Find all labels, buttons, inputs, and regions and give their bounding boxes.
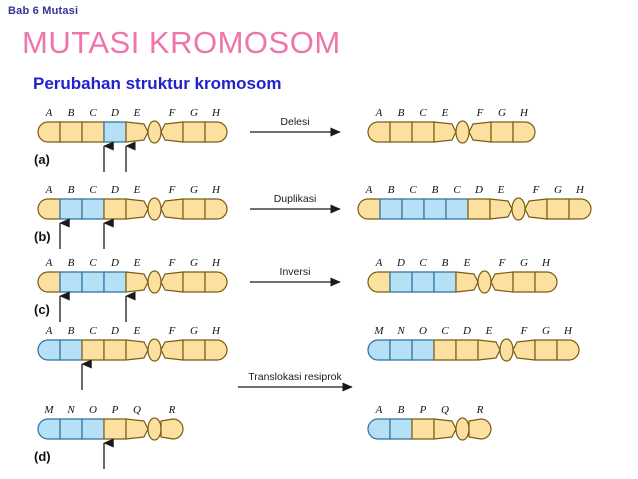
gene-label-C: C <box>409 184 417 196</box>
centromere <box>512 198 525 220</box>
gene-label-E: E <box>463 257 471 269</box>
gene-label-G: G <box>190 107 198 119</box>
gene-label-H: H <box>563 325 573 337</box>
gene-label-B: B <box>68 107 75 119</box>
chromosome-segment-F <box>469 122 491 142</box>
gene-label-E: E <box>133 107 141 119</box>
chromosome-segment-H <box>205 340 227 360</box>
chromosome-segment-D <box>104 199 126 219</box>
row-label-c: (c) <box>34 302 50 317</box>
gene-label-D: D <box>110 257 119 269</box>
chromosome-segment-O <box>412 340 434 360</box>
chromosome-segment-N <box>390 340 412 360</box>
chromosome-segment-F <box>161 272 183 292</box>
chromosome-segment-R <box>161 419 183 439</box>
chromosome-segment-D <box>104 340 126 360</box>
gene-label-G: G <box>190 184 198 196</box>
chromosome-segment-H <box>535 272 557 292</box>
chromosome-segment-H <box>569 199 591 219</box>
chromosome-segment-A <box>368 419 390 439</box>
operation-duplikasi: Duplikasi <box>250 193 340 209</box>
chromosome-segment-D <box>456 340 478 360</box>
centromere <box>500 339 513 361</box>
chromosome-segment-A <box>358 199 380 219</box>
chromosome-segment-C <box>412 272 434 292</box>
chromosome-segment-D <box>104 272 126 292</box>
chromosome-segment-E <box>456 272 478 292</box>
chromosome-d-after-1: MNOCDEFGH <box>368 325 579 361</box>
chromosome-segment-A <box>38 199 60 219</box>
chromosome-segment-G <box>183 272 205 292</box>
gene-label-E: E <box>133 257 141 269</box>
chromosome-segment-D <box>468 199 490 219</box>
chromosome-segment-E <box>126 272 148 292</box>
gene-label-A: A <box>375 107 383 119</box>
gene-label-B: B <box>432 184 439 196</box>
gene-label-H: H <box>211 184 221 196</box>
gene-label-O: O <box>419 325 427 337</box>
chromosome-segment-C <box>82 199 104 219</box>
gene-label-F: F <box>520 325 528 337</box>
chromosome-segment-G <box>535 340 557 360</box>
centromere <box>148 418 161 440</box>
chromosome-segment-F <box>161 122 183 142</box>
gene-label-B: B <box>398 404 405 416</box>
chromosome-segment-A <box>38 122 60 142</box>
chromosome-segment-H <box>205 199 227 219</box>
gene-label-C: C <box>89 257 97 269</box>
gene-label-A: A <box>365 184 373 196</box>
gene-label-C: C <box>453 184 461 196</box>
chromosome-segment-H <box>205 122 227 142</box>
chromosome-segment-B <box>424 199 446 219</box>
gene-label-H: H <box>211 107 221 119</box>
chromosome-segment-E <box>126 340 148 360</box>
gene-label-D: D <box>110 107 119 119</box>
chromosome-segment-E <box>478 340 500 360</box>
chromosome-segment-B <box>60 199 82 219</box>
chromosome-segment-G <box>513 272 535 292</box>
gene-label-F: F <box>168 257 176 269</box>
chromosome-segment-A <box>38 272 60 292</box>
gene-label-B: B <box>388 184 395 196</box>
centromere <box>148 198 161 220</box>
chromosome-segment-B <box>60 122 82 142</box>
gene-label-C: C <box>89 184 97 196</box>
operation-inversi: Inversi <box>250 266 340 282</box>
chromosome-segment-C <box>434 340 456 360</box>
gene-label-H: H <box>211 257 221 269</box>
chromosome-segment-P <box>412 419 434 439</box>
chromosome-segment-D <box>104 122 126 142</box>
chromosome-segment-M <box>38 419 60 439</box>
gene-label-E: E <box>133 325 141 337</box>
gene-label-N: N <box>66 404 75 416</box>
chromosome-segment-B <box>60 340 82 360</box>
gene-label-F: F <box>532 184 540 196</box>
chromosome-segment-C <box>82 272 104 292</box>
chromosome-d-before-2: MNOPQR <box>38 404 183 469</box>
chromosome-segment-F <box>491 272 513 292</box>
gene-label-G: G <box>190 325 198 337</box>
gene-label-G: G <box>520 257 528 269</box>
gene-label-O: O <box>89 404 97 416</box>
centromere <box>148 271 161 293</box>
gene-label-H: H <box>519 107 529 119</box>
chromosome-segment-G <box>491 122 513 142</box>
gene-label-C: C <box>419 257 427 269</box>
gene-label-B: B <box>442 257 449 269</box>
gene-label-F: F <box>476 107 484 119</box>
gene-label-A: A <box>45 257 53 269</box>
gene-label-C: C <box>419 107 427 119</box>
gene-label-D: D <box>474 184 483 196</box>
gene-label-M: M <box>373 325 384 337</box>
gene-label-G: G <box>190 257 198 269</box>
gene-label-N: N <box>396 325 405 337</box>
gene-label-P: P <box>111 404 119 416</box>
slide-canvas: Bab 6 Mutasi MUTASI KROMOSOM Perubahan s… <box>0 0 638 479</box>
chromosome-segment-F <box>525 199 547 219</box>
centromere <box>148 121 161 143</box>
chromosome-segment-O <box>82 419 104 439</box>
gene-label-C: C <box>441 325 449 337</box>
chromosome-segment-G <box>183 340 205 360</box>
gene-label-A: A <box>45 325 53 337</box>
chromosome-segment-Q <box>126 419 148 439</box>
chromosome-segment-G <box>547 199 569 219</box>
chromosome-segment-D <box>390 272 412 292</box>
chromosome-c-after: ADCBEFGH <box>368 257 557 293</box>
gene-label-C: C <box>89 107 97 119</box>
gene-label-E: E <box>441 107 449 119</box>
chromosome-segment-A <box>368 272 390 292</box>
gene-label-E: E <box>485 325 493 337</box>
chromosome-segment-E <box>126 199 148 219</box>
chromosome-segment-B <box>390 122 412 142</box>
chromosome-d-after-2: ABPQR <box>368 404 491 440</box>
gene-label-A: A <box>375 404 383 416</box>
gene-label-H: H <box>541 257 551 269</box>
gene-label-B: B <box>68 184 75 196</box>
chromosome-segment-C <box>82 340 104 360</box>
centromere <box>148 339 161 361</box>
chromosome-segment-M <box>368 340 390 360</box>
gene-label-A: A <box>45 107 53 119</box>
chromosome-segment-A <box>368 122 390 142</box>
chromosome-segment-E <box>126 122 148 142</box>
operation-translokasi: Translokasi resiprok <box>238 371 352 387</box>
chromosome-segment-R <box>469 419 491 439</box>
operation-label: Translokasi resiprok <box>248 371 342 383</box>
chromosome-d-before-1: ABCDEFGH <box>38 325 227 390</box>
chromosome-segment-F <box>161 340 183 360</box>
chromosome-segment-P <box>104 419 126 439</box>
gene-label-E: E <box>133 184 141 196</box>
gene-label-G: G <box>542 325 550 337</box>
gene-label-D: D <box>110 184 119 196</box>
chromosome-segment-N <box>60 419 82 439</box>
chromosome-segment-G <box>183 122 205 142</box>
chromosome-b-before: ABCDEFGH <box>38 184 227 249</box>
chromosome-segment-G <box>183 199 205 219</box>
gene-label-M: M <box>43 404 54 416</box>
operation-label: Inversi <box>280 266 311 278</box>
gene-label-F: F <box>168 184 176 196</box>
chromosome-segment-B <box>434 272 456 292</box>
gene-label-Q: Q <box>441 404 449 416</box>
row-label-d: (d) <box>34 449 51 464</box>
chromosome-segment-H <box>513 122 535 142</box>
chromosome-mutation-diagram: ABCDEFGH(a)DelesiABCEFGHABCDEFGH(b)Dupli… <box>0 92 638 479</box>
gene-label-F: F <box>498 257 506 269</box>
row-label-b: (b) <box>34 229 51 244</box>
gene-label-B: B <box>68 257 75 269</box>
chromosome-a-before: ABCDEFGH <box>38 107 227 172</box>
chromosome-segment-E <box>434 122 456 142</box>
chromosome-segment-A <box>38 340 60 360</box>
gene-label-R: R <box>476 404 484 416</box>
gene-label-F: F <box>168 325 176 337</box>
operation-label: Delesi <box>280 116 309 128</box>
gene-label-D: D <box>462 325 471 337</box>
gene-label-B: B <box>398 107 405 119</box>
centromere <box>456 121 469 143</box>
operation-delesi: Delesi <box>250 116 340 132</box>
centromere <box>456 418 469 440</box>
chromosome-segment-H <box>205 272 227 292</box>
gene-label-G: G <box>498 107 506 119</box>
chromosome-segment-C <box>446 199 468 219</box>
gene-label-H: H <box>211 325 221 337</box>
centromere <box>478 271 491 293</box>
chromosome-segment-C <box>402 199 424 219</box>
gene-label-H: H <box>575 184 585 196</box>
chromosome-segment-B <box>380 199 402 219</box>
page-subtitle: Perubahan struktur kromosom <box>33 74 281 94</box>
gene-label-C: C <box>89 325 97 337</box>
chromosome-segment-C <box>412 122 434 142</box>
gene-label-A: A <box>375 257 383 269</box>
gene-label-A: A <box>45 184 53 196</box>
chromosome-segment-E <box>490 199 512 219</box>
gene-label-D: D <box>396 257 405 269</box>
gene-label-P: P <box>419 404 427 416</box>
chromosome-c-before: ABCDEFGH <box>38 257 227 322</box>
chromosome-segment-C <box>82 122 104 142</box>
gene-label-D: D <box>110 325 119 337</box>
gene-label-G: G <box>554 184 562 196</box>
gene-label-F: F <box>168 107 176 119</box>
gene-label-E: E <box>497 184 505 196</box>
gene-label-B: B <box>68 325 75 337</box>
chromosome-segment-H <box>557 340 579 360</box>
chapter-header: Bab 6 Mutasi <box>8 5 78 17</box>
chromosome-segment-Q <box>434 419 456 439</box>
operation-label: Duplikasi <box>274 193 317 205</box>
gene-label-Q: Q <box>133 404 141 416</box>
chromosome-a-after: ABCEFGH <box>368 107 535 143</box>
chromosome-segment-B <box>60 272 82 292</box>
chromosome-segment-B <box>390 419 412 439</box>
chromosome-segment-F <box>161 199 183 219</box>
chromosome-b-after: ABCBCDEFGH <box>358 184 591 220</box>
page-title: MUTASI KROMOSOM <box>22 25 341 61</box>
chromosome-segment-F <box>513 340 535 360</box>
gene-label-R: R <box>168 404 176 416</box>
row-label-a: (a) <box>34 152 50 167</box>
